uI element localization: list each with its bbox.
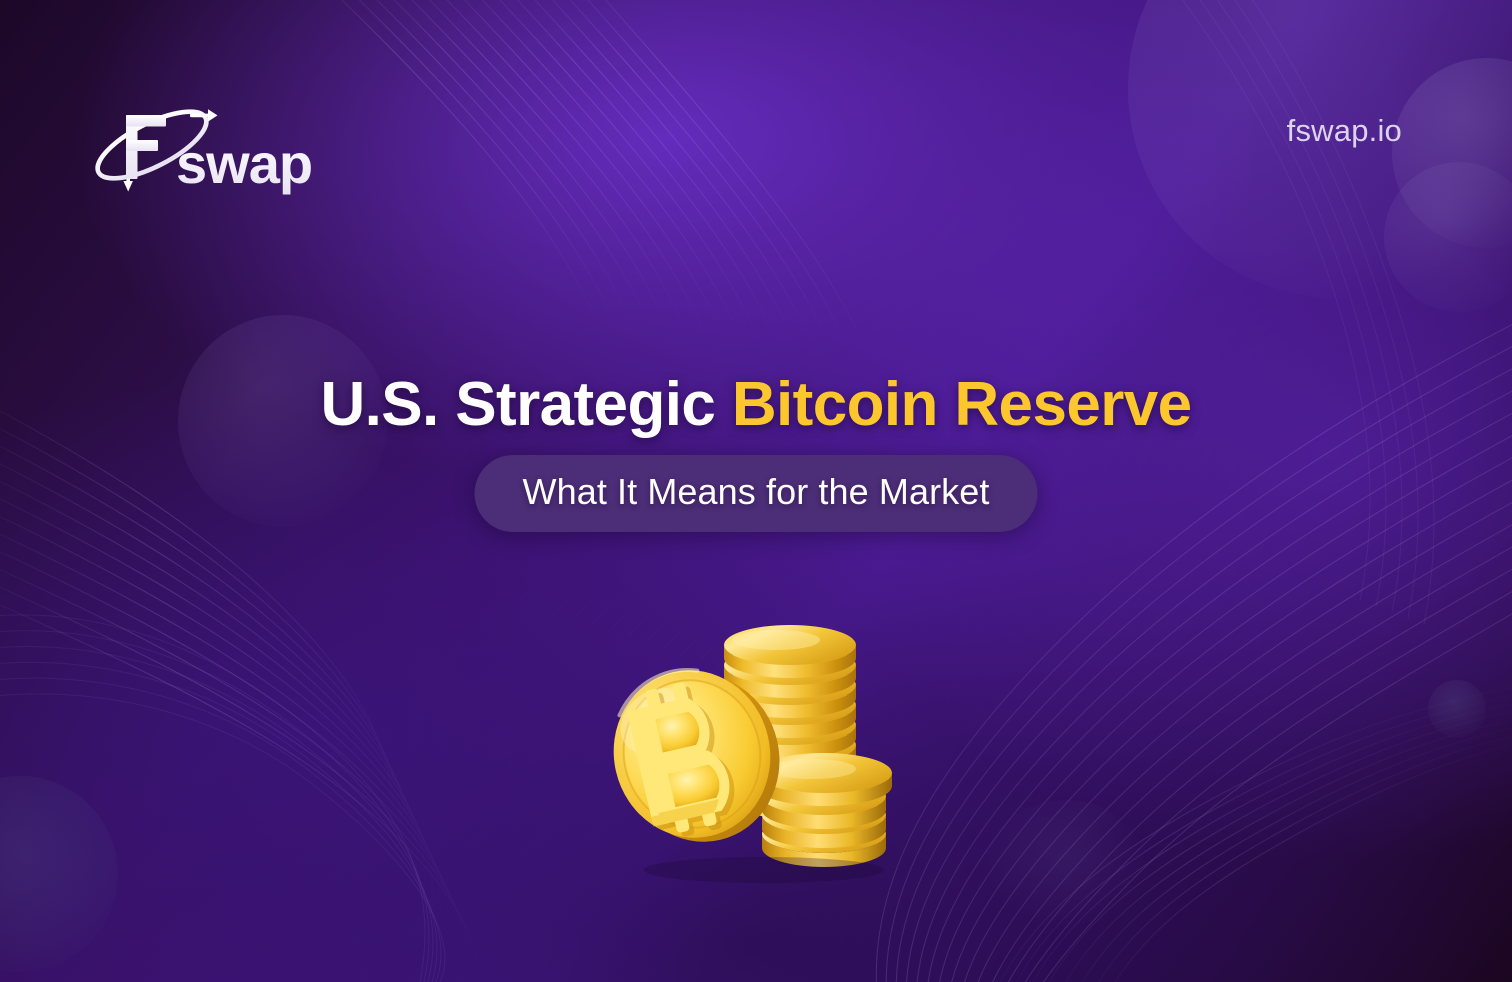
hero-banner: swap fswap.io U.S. Strategic Bitcoin Res… <box>0 0 1512 982</box>
decorative-circle-right-edge <box>1392 58 1512 248</box>
fswap-orbit-logo-icon: swap <box>90 95 320 199</box>
decorative-circle-right-lower <box>1428 680 1486 738</box>
logo-wordmark-swap: swap <box>176 132 312 195</box>
decorative-glow-bottom-center <box>985 800 1145 930</box>
decorative-circle-top-right-small <box>1384 162 1512 312</box>
bitcoin-coin-stack-illustration <box>596 582 926 882</box>
fswap-logo[interactable]: swap <box>90 95 320 199</box>
decorative-circle-top-right <box>1128 0 1512 298</box>
decorative-circle-bottom-left <box>0 776 118 972</box>
subtitle-text: What It Means for the Market <box>523 471 990 513</box>
site-url-label: fswap.io <box>1287 113 1402 149</box>
page-title: U.S. Strategic Bitcoin Reserve <box>0 374 1512 436</box>
page-title-part-accent: Bitcoin Reserve <box>732 370 1192 439</box>
subtitle-badge: What It Means for the Market <box>475 455 1038 532</box>
page-title-part-white: U.S. Strategic <box>321 370 732 439</box>
bitcoin-coin-stack-icon <box>596 582 926 882</box>
